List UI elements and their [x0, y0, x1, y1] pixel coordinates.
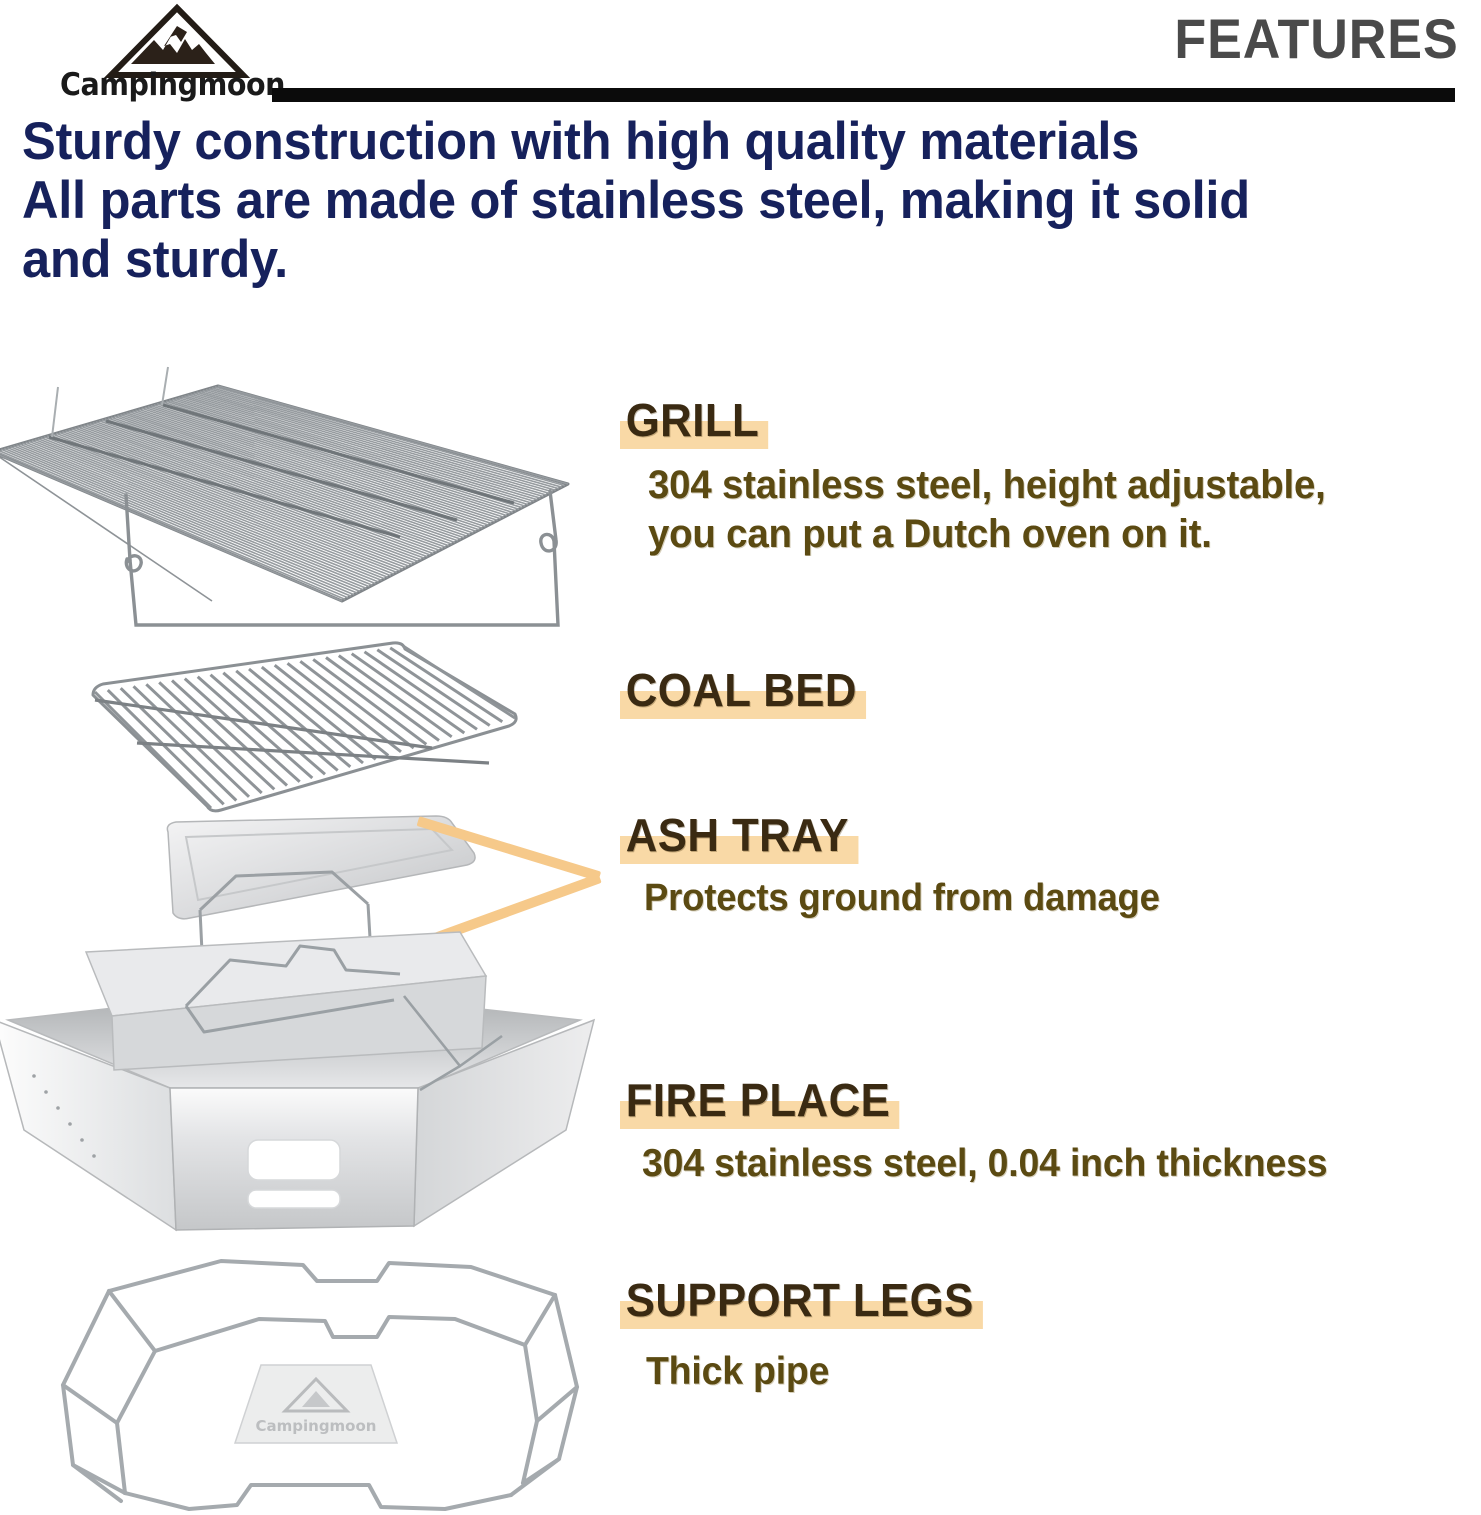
feature-body-support-legs: Thick pipe — [646, 1347, 1448, 1396]
feature-heading-ash-tray: ASH TRAY — [620, 810, 858, 860]
grill-grate-icon — [0, 375, 610, 675]
brand-logo: Campingmoon — [60, 6, 275, 106]
feature-list: GRILL 304 stainless steel, height adjust… — [620, 350, 1481, 1500]
feature-block-support-legs: SUPPORT LEGS Thick pipe — [620, 1275, 1481, 1396]
fire-place-pan-icon — [0, 940, 610, 1260]
coal-bed-grate-icon — [85, 640, 525, 820]
feature-body-grill: 304 stainless steel, height adjustable, … — [648, 461, 1448, 559]
feature-heading-support-legs: SUPPORT LEGS — [620, 1275, 983, 1325]
feature-body-line: 304 stainless steel, height adjustable, — [648, 461, 1448, 510]
headline-line-3: and sturdy. — [22, 230, 1397, 289]
page-title: FEATURES — [1175, 11, 1459, 67]
feature-body-line: you can put a Dutch oven on it. — [648, 510, 1448, 559]
feature-block-ash-tray: ASH TRAY Protects ground from damage — [620, 810, 1481, 923]
plate-wordmark: Campingmoon — [256, 1417, 377, 1435]
feature-heading-coal-bed: COAL BED — [620, 665, 866, 715]
brand-wordmark: Campingmoon — [60, 70, 258, 101]
header-divider — [272, 88, 1455, 102]
feature-block-grill: GRILL 304 stainless steel, height adjust… — [620, 395, 1481, 559]
ash-tray-pointer-arrow-icon — [410, 813, 650, 933]
feature-body-line: Thick pipe — [646, 1347, 1448, 1396]
feature-block-fire-place: FIRE PLACE 304 stainless steel, 0.04 inc… — [620, 1075, 1481, 1188]
headline-line-1: Sturdy construction with high quality ma… — [22, 112, 1397, 171]
feature-body-line: 304 stainless steel, 0.04 inch thickness — [642, 1139, 1447, 1188]
feature-heading-grill: GRILL — [620, 395, 769, 445]
support-legs-frame-icon: Campingmoon — [25, 1255, 585, 1515]
page-header: Campingmoon FEATURES — [0, 0, 1481, 108]
feature-body-ash-tray: Protects ground from damage — [644, 874, 1448, 923]
headline-line-2: All parts are made of stainless steel, m… — [22, 171, 1397, 230]
feature-body-fire-place: 304 stainless steel, 0.04 inch thickness — [642, 1139, 1447, 1188]
feature-heading-fire-place: FIRE PLACE — [620, 1075, 900, 1125]
feature-body-line: Protects ground from damage — [644, 874, 1448, 923]
feature-block-coal-bed: COAL BED — [620, 665, 1481, 715]
exploded-product-illustration: Campingmoon — [0, 350, 620, 1500]
headline: Sturdy construction with high quality ma… — [22, 112, 1397, 289]
